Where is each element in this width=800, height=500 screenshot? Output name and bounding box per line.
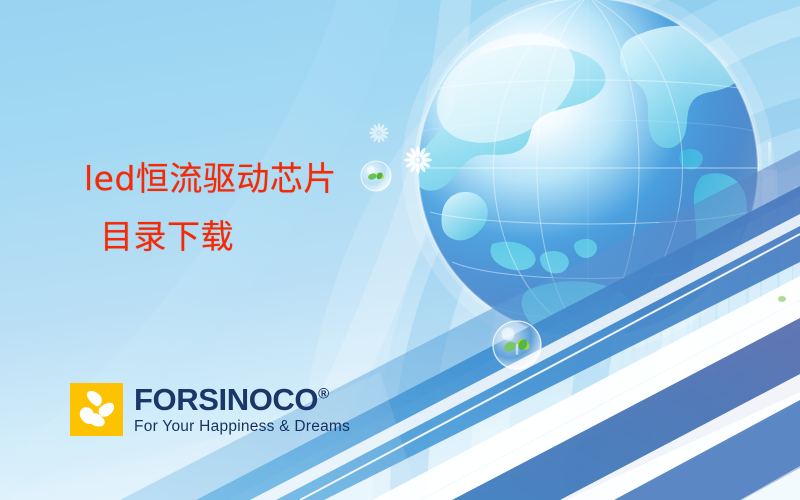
logo-tagline: For Your Happiness & Dreams: [134, 418, 350, 436]
wordmark-label: FORSINOCO: [134, 382, 318, 417]
logo-wordmark: FORSINOCO®: [134, 384, 350, 415]
headline-line-2: 目录下载: [100, 220, 337, 253]
promo-banner: led恒流驱动芯片 目录下载 FORSINOCO®: [0, 0, 800, 500]
logo-text-lockup: FORSINOCO® For Your Happiness & Dreams: [134, 384, 350, 436]
four-petal-pinwheel-mark: [70, 383, 123, 436]
headline-text: led恒流驱动芯片 目录下载: [84, 162, 337, 253]
bubble-with-pinwheel: [361, 161, 391, 191]
bubble-small-right: [773, 289, 795, 311]
registered-trademark-icon: ®: [318, 385, 329, 402]
brand-logo[interactable]: FORSINOCO® For Your Happiness & Dreams: [70, 383, 350, 436]
headline-line-1: led恒流驱动芯片: [84, 162, 337, 195]
bubble-with-leaf: [493, 321, 541, 369]
